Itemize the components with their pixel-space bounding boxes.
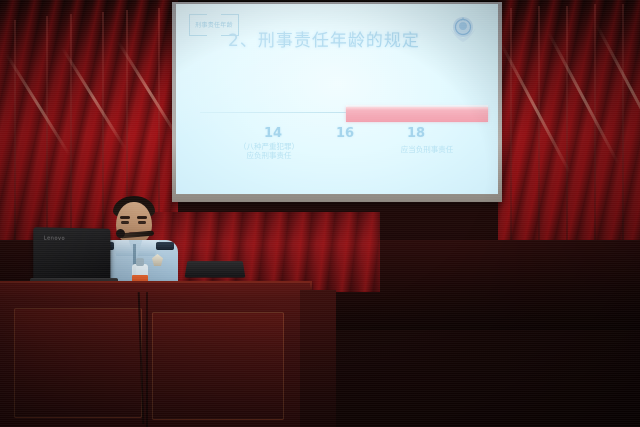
chart-tick-14: 14 — [264, 126, 282, 141]
chart-label-left-line1: （八种严重犯罪） — [214, 142, 324, 151]
podium-panel — [152, 312, 284, 420]
laptop: Lenovo — [33, 227, 110, 283]
stage-backdrop-drape — [150, 212, 380, 292]
laptop-brand-label: Lenovo — [44, 236, 65, 242]
criminal-responsibility-age-chart: 14 16 18 （八种严重犯罪） 应负刑事责任 应当负刑事责任 — [176, 4, 498, 194]
podium-panel — [14, 308, 142, 418]
chart-tick-18: 18 — [407, 126, 425, 141]
lecture-hall-photo: 刑事责任年龄 2、刑事责任年龄的规定 14 16 18 （八种严重犯罪） — [0, 0, 640, 427]
eyebrow — [137, 216, 147, 219]
eyebrow — [120, 216, 130, 219]
eye — [121, 221, 129, 224]
podium-seam — [146, 292, 148, 427]
epaulette — [156, 242, 174, 250]
chart-tick-16: 16 — [336, 126, 354, 141]
chart-bar-16-18 — [346, 107, 488, 122]
chart-label-right: 应当负刑事责任 — [374, 144, 480, 155]
microphone-head — [116, 229, 125, 238]
secondary-keyboard — [185, 261, 246, 277]
eye — [138, 221, 146, 224]
chart-label-left-line2: 应负刑事责任 — [214, 151, 324, 160]
chart-label-left: （八种严重犯罪） 应负刑事责任 — [214, 142, 324, 160]
desk-right-section — [300, 290, 336, 427]
projection-screen: 刑事责任年龄 2、刑事责任年龄的规定 14 16 18 （八种严重犯罪） — [176, 4, 498, 194]
